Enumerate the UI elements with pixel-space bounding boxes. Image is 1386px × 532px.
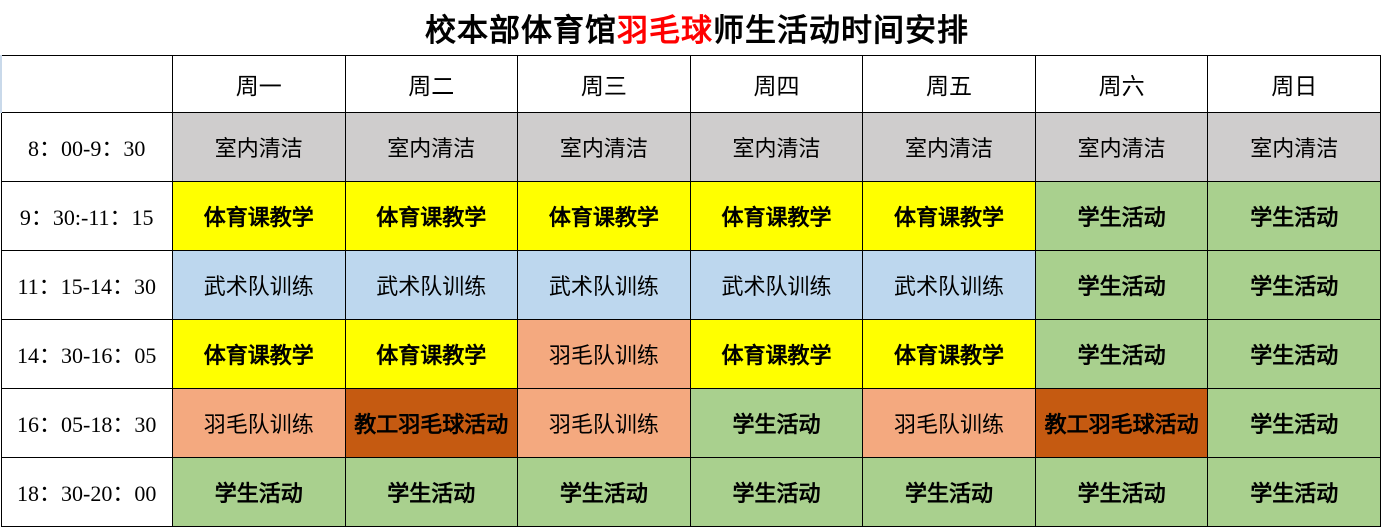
table-body: 8：00-9：30室内清洁室内清洁室内清洁室内清洁室内清洁室内清洁室内清洁9：3… bbox=[1, 113, 1381, 527]
activity-cell[interactable]: 教工羽毛球活动 bbox=[1035, 389, 1208, 458]
activity-cell[interactable]: 学生活动 bbox=[1208, 458, 1381, 527]
activity-cell[interactable]: 室内清洁 bbox=[1035, 113, 1208, 182]
activity-cell[interactable]: 学生活动 bbox=[172, 458, 345, 527]
page-title-text: 校本部体育馆羽毛球师生活动时间安排 bbox=[425, 5, 969, 50]
activity-cell[interactable]: 室内清洁 bbox=[1208, 113, 1381, 182]
schedule-table: 周一周二周三周四周五周六周日 8：00-9：30室内清洁室内清洁室内清洁室内清洁… bbox=[0, 55, 1381, 527]
time-slot-cell: 8：00-9：30 bbox=[1, 113, 172, 182]
activity-cell[interactable]: 室内清洁 bbox=[518, 113, 691, 182]
header-corner-cell bbox=[1, 56, 172, 113]
time-slot-cell: 16：05-18：30 bbox=[1, 389, 172, 458]
header-day-1: 周一 bbox=[172, 56, 345, 113]
activity-cell[interactable]: 体育课教学 bbox=[690, 182, 863, 251]
activity-cell[interactable]: 体育课教学 bbox=[863, 320, 1036, 389]
header-day-3: 周三 bbox=[518, 56, 691, 113]
activity-cell[interactable]: 羽毛队训练 bbox=[518, 389, 691, 458]
table-row: 16：05-18：30羽毛队训练教工羽毛球活动羽毛队训练学生活动羽毛队训练教工羽… bbox=[1, 389, 1381, 458]
activity-cell[interactable]: 羽毛队训练 bbox=[172, 389, 345, 458]
activity-cell[interactable]: 体育课教学 bbox=[345, 182, 518, 251]
header-day-4: 周四 bbox=[690, 56, 863, 113]
activity-cell[interactable]: 学生活动 bbox=[1035, 182, 1208, 251]
activity-cell[interactable]: 室内清洁 bbox=[345, 113, 518, 182]
time-slot-cell: 18：30-20：00 bbox=[1, 458, 172, 527]
header-day-2: 周二 bbox=[345, 56, 518, 113]
activity-cell[interactable]: 学生活动 bbox=[1035, 251, 1208, 320]
activity-cell[interactable]: 室内清洁 bbox=[863, 113, 1036, 182]
time-slot-cell: 14：30-16：05 bbox=[1, 320, 172, 389]
time-slot-cell: 11：15-14：30 bbox=[1, 251, 172, 320]
activity-cell[interactable]: 学生活动 bbox=[518, 458, 691, 527]
activity-cell[interactable]: 学生活动 bbox=[1035, 458, 1208, 527]
activity-cell[interactable]: 学生活动 bbox=[1208, 251, 1381, 320]
activity-cell[interactable]: 体育课教学 bbox=[172, 320, 345, 389]
activity-cell[interactable]: 室内清洁 bbox=[690, 113, 863, 182]
table-row: 14：30-16：05体育课教学体育课教学羽毛队训练体育课教学体育课教学学生活动… bbox=[1, 320, 1381, 389]
activity-cell[interactable]: 教工羽毛球活动 bbox=[345, 389, 518, 458]
page-title-prefix: 校本部体育馆 bbox=[425, 13, 617, 48]
table-row: 11：15-14：30武术队训练武术队训练武术队训练武术队训练武术队训练学生活动… bbox=[1, 251, 1381, 320]
activity-cell[interactable]: 学生活动 bbox=[690, 458, 863, 527]
page-title-suffix: 师生活动时间安排 bbox=[713, 13, 969, 48]
activity-cell[interactable]: 学生活动 bbox=[1035, 320, 1208, 389]
table-row: 8：00-9：30室内清洁室内清洁室内清洁室内清洁室内清洁室内清洁室内清洁 bbox=[1, 113, 1381, 182]
activity-cell[interactable]: 武术队训练 bbox=[172, 251, 345, 320]
activity-cell[interactable]: 羽毛队训练 bbox=[518, 320, 691, 389]
time-slot-cell: 9：30:-11：15 bbox=[1, 182, 172, 251]
schedule-sheet: 校本部体育馆羽毛球师生活动时间安排 周一周二周三周四周五周六周日 8：00-9：… bbox=[0, 0, 1386, 532]
table-row: 9：30:-11：15体育课教学体育课教学体育课教学体育课教学体育课教学学生活动… bbox=[1, 182, 1381, 251]
header-day-5: 周五 bbox=[863, 56, 1036, 113]
activity-cell[interactable]: 学生活动 bbox=[1208, 182, 1381, 251]
activity-cell[interactable]: 学生活动 bbox=[690, 389, 863, 458]
activity-cell[interactable]: 体育课教学 bbox=[172, 182, 345, 251]
activity-cell[interactable]: 学生活动 bbox=[1208, 320, 1381, 389]
activity-cell[interactable]: 体育课教学 bbox=[345, 320, 518, 389]
activity-cell[interactable]: 武术队训练 bbox=[863, 251, 1036, 320]
activity-cell[interactable]: 体育课教学 bbox=[690, 320, 863, 389]
page-title-highlight: 羽毛球 bbox=[617, 13, 713, 48]
activity-cell[interactable]: 学生活动 bbox=[345, 458, 518, 527]
table-header-row: 周一周二周三周四周五周六周日 bbox=[1, 56, 1381, 113]
activity-cell[interactable]: 武术队训练 bbox=[345, 251, 518, 320]
activity-cell[interactable]: 体育课教学 bbox=[863, 182, 1036, 251]
table-row: 18：30-20：00学生活动学生活动学生活动学生活动学生活动学生活动学生活动 bbox=[1, 458, 1381, 527]
activity-cell[interactable]: 学生活动 bbox=[863, 458, 1036, 527]
header-day-6: 周六 bbox=[1035, 56, 1208, 113]
activity-cell[interactable]: 武术队训练 bbox=[518, 251, 691, 320]
header-day-7: 周日 bbox=[1208, 56, 1381, 113]
activity-cell[interactable]: 学生活动 bbox=[1208, 389, 1381, 458]
activity-cell[interactable]: 羽毛队训练 bbox=[863, 389, 1036, 458]
activity-cell[interactable]: 体育课教学 bbox=[518, 182, 691, 251]
activity-cell[interactable]: 室内清洁 bbox=[172, 113, 345, 182]
page-title: 校本部体育馆羽毛球师生活动时间安排 bbox=[0, 0, 1386, 55]
activity-cell[interactable]: 武术队训练 bbox=[690, 251, 863, 320]
